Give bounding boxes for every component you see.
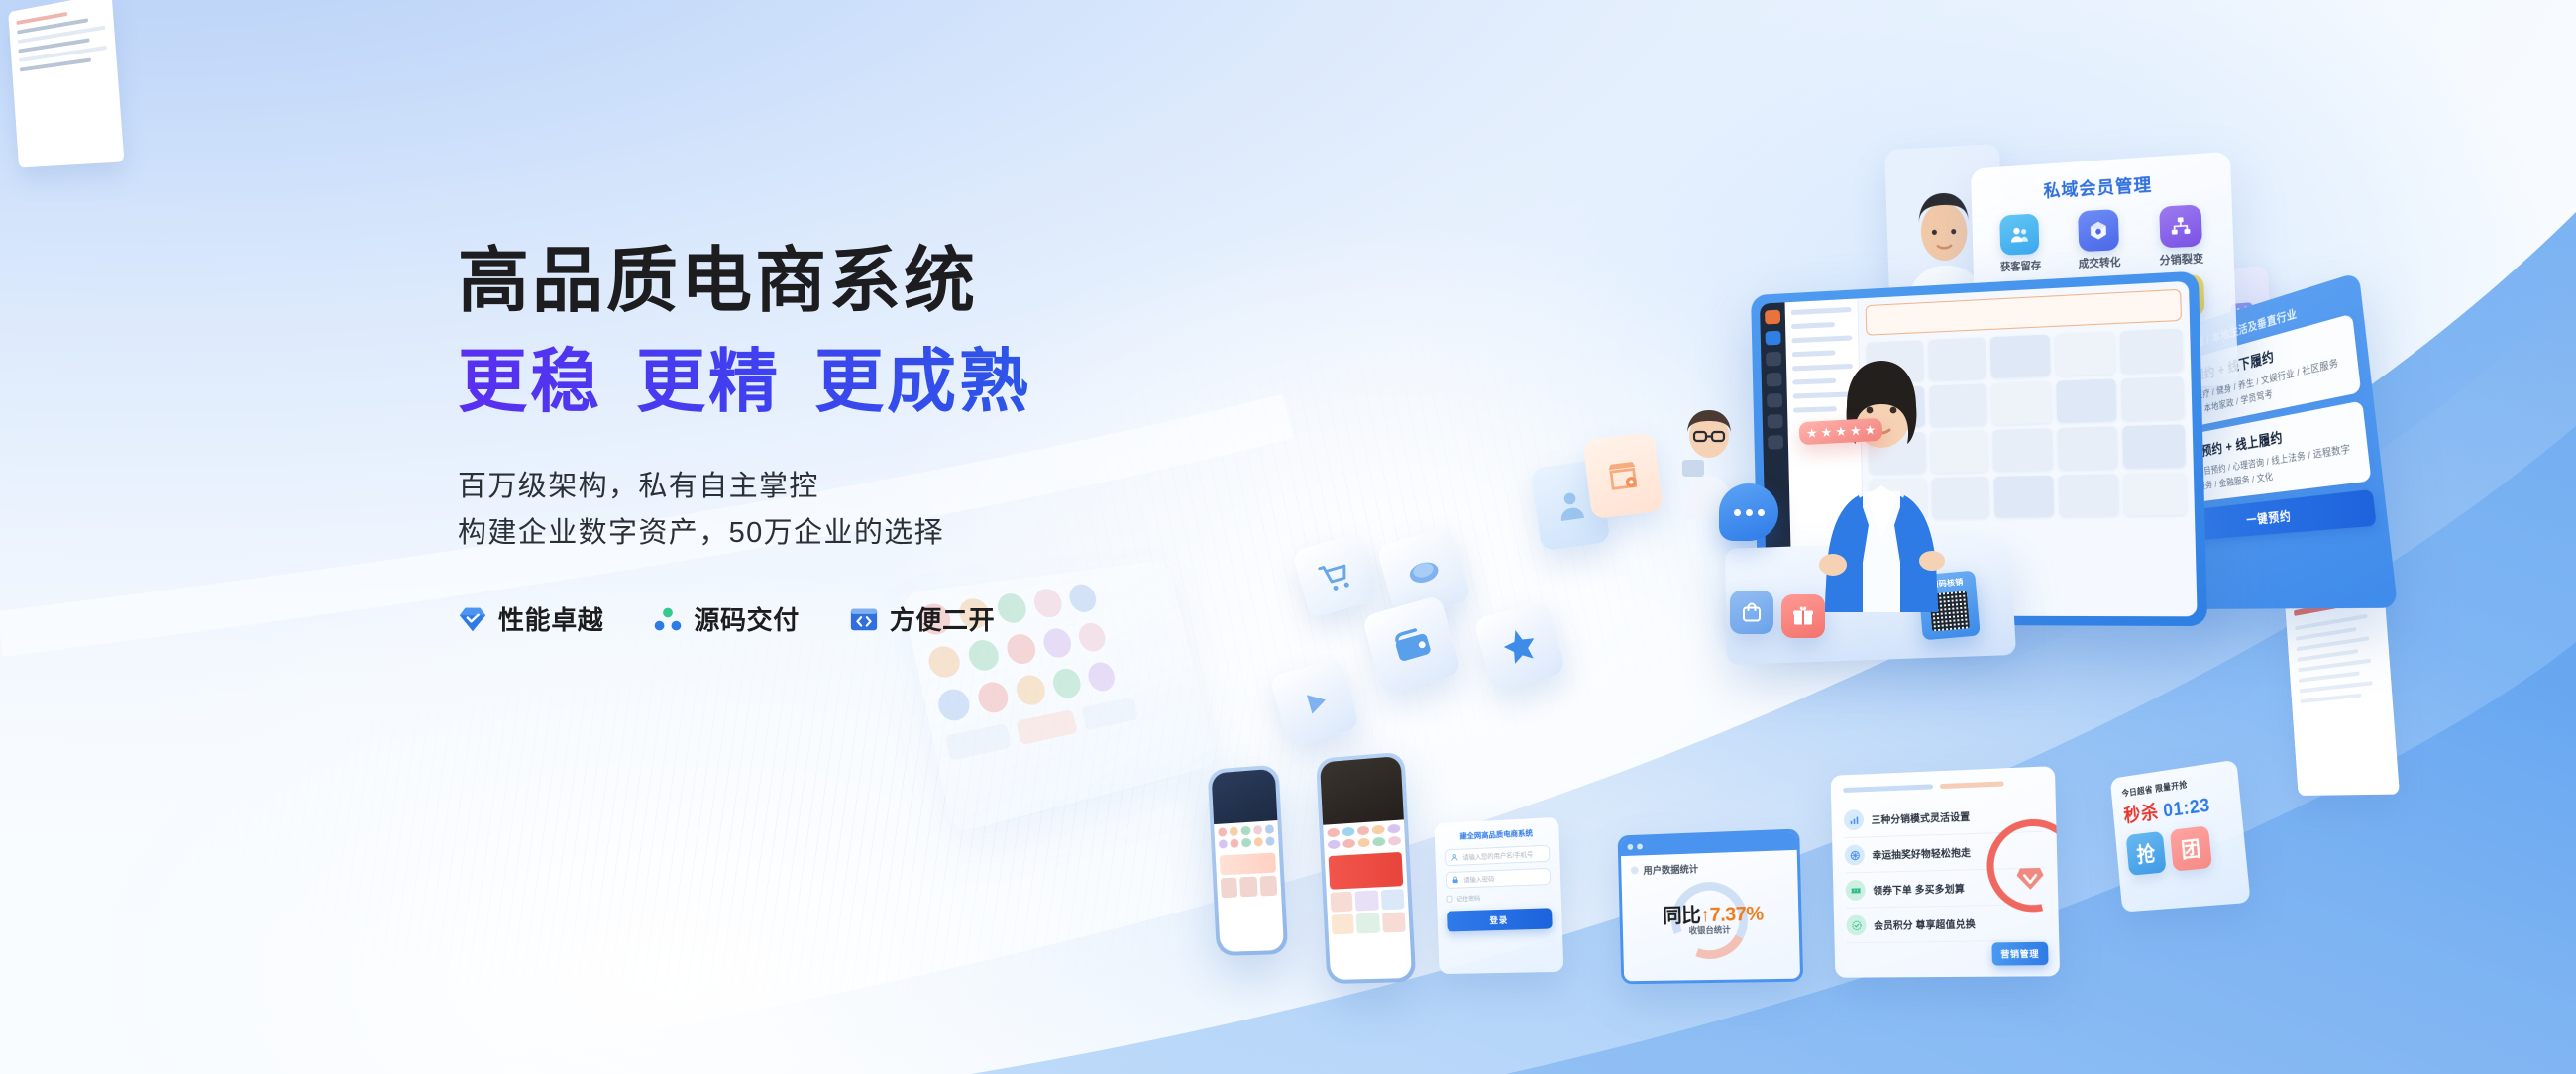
rail-icon[interactable]	[1765, 310, 1780, 325]
phone-screen	[1212, 769, 1285, 952]
rail-icon[interactable]	[1768, 414, 1783, 429]
marketing-item-label: 领券下单 多买多划算	[1873, 880, 1965, 897]
phone-app-icon[interactable]	[1218, 827, 1227, 836]
users-icon	[2000, 213, 2040, 255]
phone-promo-band	[1329, 852, 1404, 890]
marketing-item-label: 幸运抽奖好物轻松抱走	[1872, 844, 1971, 862]
article-line	[2295, 614, 2367, 630]
gem-icon	[2012, 859, 2047, 894]
star-icon: ★	[1820, 425, 1832, 439]
mini-grid-card	[1081, 697, 1138, 730]
flash-sale-tiles: 抢 团	[2126, 823, 2235, 876]
phone-app-icon[interactable]	[1327, 828, 1340, 838]
remember-password-row[interactable]: 记住密码	[1446, 891, 1551, 904]
checkbox-icon[interactable]	[1447, 896, 1453, 903]
mini-grid-dot	[1014, 673, 1048, 707]
member-panel-title: 私域会员管理	[1985, 165, 2216, 205]
hero-copy: 高品质电商系统 更稳更精更成熟 百万级架构，私有自主掌控 构建企业数字资产，50…	[458, 244, 1429, 637]
phone-product-card[interactable]	[1355, 890, 1379, 911]
phone-screen	[1320, 756, 1412, 980]
rail-icon[interactable]	[1768, 435, 1783, 449]
mini-grid-dot	[925, 644, 962, 680]
product-tile[interactable]	[2055, 332, 2116, 376]
header-bar	[1940, 781, 2004, 789]
phone-product-card[interactable]	[1330, 892, 1352, 913]
phone-app-icon[interactable]	[1253, 837, 1262, 847]
hero-subtitle-part-3: 更成熟	[814, 343, 1031, 420]
phone-app-icon[interactable]	[1342, 827, 1354, 837]
member-tile-distribution[interactable]: 分销裂变	[2143, 203, 2219, 268]
hero-subtitle-part-1: 更稳	[458, 343, 602, 420]
username-field[interactable]: 请输入您的用户名/手机号	[1445, 845, 1550, 867]
feature-badge-list: 性能卓越 源码交付	[458, 600, 1429, 637]
coupon-icon	[1845, 880, 1866, 901]
phone-app-icon[interactable]	[1357, 838, 1370, 848]
phone-product-card[interactable]	[1259, 876, 1277, 897]
phone-icon-grid	[1214, 820, 1279, 853]
member-tile-label: 分销裂变	[2159, 251, 2203, 268]
member-tile-label: 获客留存	[2000, 258, 2042, 274]
mini-grid-dot	[935, 687, 972, 723]
phone-product-card[interactable]	[1221, 878, 1238, 899]
sparkle-icon	[1496, 622, 1543, 669]
feature-badge-performance[interactable]: 性能卓越	[458, 600, 603, 637]
phone-app-icon[interactable]	[1230, 827, 1238, 837]
flash-sale-timer: 01:23	[2162, 795, 2210, 822]
product-tile[interactable]	[2058, 474, 2119, 516]
sidebar-line	[1791, 307, 1852, 315]
article-line	[2297, 649, 2358, 662]
marketing-card-header-bars	[1843, 780, 2042, 793]
gem-check-icon	[458, 604, 487, 634]
bullet-dot	[1631, 866, 1639, 874]
phone-app-icon[interactable]	[1265, 824, 1275, 834]
user-icon	[1450, 853, 1459, 862]
phone-app-icon[interactable]	[1265, 836, 1275, 846]
star-icon: ★	[1850, 424, 1862, 438]
phone-product-card[interactable]	[1380, 889, 1404, 910]
phone-product-card[interactable]	[1382, 912, 1406, 932]
phone-product-card[interactable]	[1239, 877, 1257, 898]
phone-product-card[interactable]	[1332, 914, 1354, 935]
product-tile[interactable]	[1991, 381, 2052, 425]
product-tile[interactable]	[2123, 424, 2186, 468]
phone-product-row	[1328, 912, 1410, 934]
member-tile-acquisition[interactable]: 获客留存	[1986, 213, 2056, 275]
phone-app-icon[interactable]	[1373, 837, 1386, 847]
article-sheet	[2285, 582, 2400, 796]
marketing-features-card: 三种分销模式灵活设置 幸运抽奖好物轻松抱走 领券下单 多买多划算 会员积分 尊享…	[1831, 766, 2061, 978]
shopping-bag-icon	[1740, 600, 1764, 624]
product-tile[interactable]	[2124, 473, 2187, 516]
phone-product-row	[1217, 875, 1281, 898]
flash-sale-grab-tile[interactable]: 抢	[2126, 831, 2167, 876]
login-card-title: 建全网高品质电商系统	[1444, 826, 1549, 842]
phone-mockup-right	[1316, 752, 1416, 985]
phone-mockup-left	[1208, 764, 1289, 956]
counter-tile-shopping-bag	[1730, 591, 1773, 634]
badge-check-icon	[1846, 914, 1867, 935]
article-line	[2299, 671, 2360, 682]
document-sheets	[8, 0, 149, 215]
product-tile[interactable]	[2057, 426, 2118, 470]
phone-app-icon[interactable]	[1357, 826, 1370, 836]
product-tile[interactable]	[2120, 328, 2183, 373]
stats-caption: 收银台统计	[1663, 923, 1757, 937]
bubble-dot	[1758, 509, 1765, 516]
lock-icon	[1451, 876, 1460, 885]
code-window-icon	[849, 604, 879, 634]
hero-banner: 高品质电商系统 更稳更精更成熟 百万级架构，私有自主掌控 构建企业数字资产，50…	[0, 0, 2576, 1074]
mini-grid-card	[1016, 709, 1078, 745]
feature-badge-secondary-dev[interactable]: 方便二开	[849, 600, 995, 637]
stats-metric-arrow: ↑	[1700, 905, 1710, 926]
phone-app-icon[interactable]	[1219, 839, 1228, 848]
lottery-icon	[1845, 844, 1866, 865]
share-nodes-icon	[653, 604, 683, 634]
rail-icon[interactable]	[1767, 373, 1782, 387]
window-dot	[1637, 843, 1643, 849]
password-field[interactable]: 请输入密码	[1446, 868, 1552, 889]
page-title: 高品质电商系统	[458, 244, 1429, 321]
hero-subtitle-part-2: 更精	[636, 343, 781, 420]
user-card-icon	[1551, 483, 1591, 528]
feature-badge-label: 源码交付	[694, 600, 799, 637]
user-stats-card: 用户数据统计 同比↑7.37% 收银台统计	[1618, 828, 1804, 984]
phone-banner	[1320, 756, 1404, 825]
login-submit-button[interactable]: 登录	[1447, 908, 1553, 931]
marketing-item-label: 会员积分 尊享超值兑换	[1874, 915, 1976, 932]
password-placeholder: 请输入密码	[1463, 874, 1494, 884]
phone-app-icon[interactable]	[1387, 824, 1400, 834]
play-icon	[1292, 680, 1338, 725]
product-tile[interactable]	[1992, 428, 2053, 471]
stats-donut-chart: 同比↑7.37% 收银台统计	[1662, 878, 1757, 941]
product-tile[interactable]	[2056, 378, 2117, 422]
star-icon: ★	[1835, 425, 1847, 439]
staff-member-illustration	[1807, 315, 1956, 612]
username-placeholder: 请输入您的用户名/手机号	[1462, 849, 1533, 861]
mini-grid-dot	[1085, 660, 1117, 693]
marketing-item-label: 三种分销模式灵活设置	[1872, 808, 1971, 826]
hero-description: 百万级架构，私有自主掌控 构建企业数字资产，50万企业的选择	[458, 464, 1429, 557]
marketing-item-points: 会员积分 尊享超值兑换	[1846, 905, 2046, 943]
marketing-management-button[interactable]: 营销管理	[1991, 942, 2049, 966]
mini-grid-dot	[1004, 632, 1038, 666]
rail-icon[interactable]	[1766, 352, 1781, 367]
mini-grid-dot	[975, 680, 1011, 715]
phone-app-icon[interactable]	[1231, 838, 1239, 847]
phone-app-icon[interactable]	[1372, 825, 1385, 835]
chat-bubble-decoration	[1719, 483, 1778, 541]
mini-grid-dot	[1050, 667, 1084, 700]
rail-icon[interactable]	[1766, 331, 1781, 346]
feature-badge-source-code[interactable]: 源码交付	[653, 600, 799, 637]
floating-tile-store-settings	[1582, 432, 1663, 519]
login-card: 建全网高品质电商系统 请输入您的用户名/手机号 请输入密码 记住密码 登录	[1434, 817, 1563, 974]
store-gear-icon	[1603, 454, 1644, 497]
bubble-dot	[1734, 509, 1741, 516]
phone-app-icon[interactable]	[1342, 839, 1355, 849]
bubble-dot	[1746, 509, 1753, 516]
product-tile[interactable]	[1993, 476, 2054, 518]
flash-sale-group-tile[interactable]: 团	[2170, 825, 2212, 871]
product-tile[interactable]	[1990, 335, 2050, 378]
phone-icon-grid	[1323, 819, 1405, 853]
member-tile-conversion[interactable]: 成交转化	[2063, 208, 2136, 271]
feature-badge-label: 性能卓越	[498, 600, 603, 637]
flash-sale-card: 今日超省 限量开抢 秒杀 01:23 抢 团	[2110, 760, 2251, 913]
cube-icon	[2078, 209, 2119, 252]
phone-app-icon[interactable]	[1241, 838, 1250, 848]
article-line	[2300, 681, 2373, 693]
feature-badge-label: 方便二开	[890, 600, 995, 637]
phone-promo-band	[1220, 852, 1276, 875]
star-icon: ★	[1864, 423, 1876, 437]
phone-app-icon[interactable]	[1241, 826, 1250, 836]
window-dot	[1627, 844, 1633, 850]
stats-card-body: 用户数据统计 同比↑7.37% 收银台统计	[1621, 850, 1799, 950]
sitemap-icon	[2159, 204, 2202, 248]
article-line	[2298, 659, 2371, 673]
rail-icon[interactable]	[1767, 393, 1782, 408]
hero-description-line-1: 百万级架构，私有自主掌控	[458, 464, 1429, 510]
chart-bar-icon	[1844, 809, 1865, 830]
hero-description-line-2: 构建企业数字资产，50万企业的选择	[458, 510, 1429, 557]
rating-stars-chip: ★ ★ ★ ★ ★	[1798, 418, 1882, 445]
mini-grid-dot	[966, 638, 1002, 673]
mini-grid-card	[945, 723, 1012, 761]
phone-product-row	[1327, 889, 1409, 913]
flash-sale-label: 秒杀	[2122, 798, 2160, 828]
hero-subtitle: 更稳更精更成熟	[458, 343, 1429, 420]
article-line	[2300, 694, 2361, 703]
phone-app-icon[interactable]	[1253, 825, 1262, 835]
phone-app-icon[interactable]	[1328, 840, 1341, 850]
member-tile-label: 成交转化	[2078, 254, 2120, 270]
phone-product-card[interactable]	[1356, 913, 1380, 933]
product-tile[interactable]	[2121, 376, 2184, 421]
document-sheet	[8, 0, 124, 167]
header-bar	[1843, 784, 1933, 793]
phone-banner	[1212, 769, 1278, 824]
star-icon: ★	[1806, 426, 1818, 440]
remember-password-label: 记住密码	[1456, 894, 1480, 904]
phone-app-icon[interactable]	[1388, 836, 1401, 846]
